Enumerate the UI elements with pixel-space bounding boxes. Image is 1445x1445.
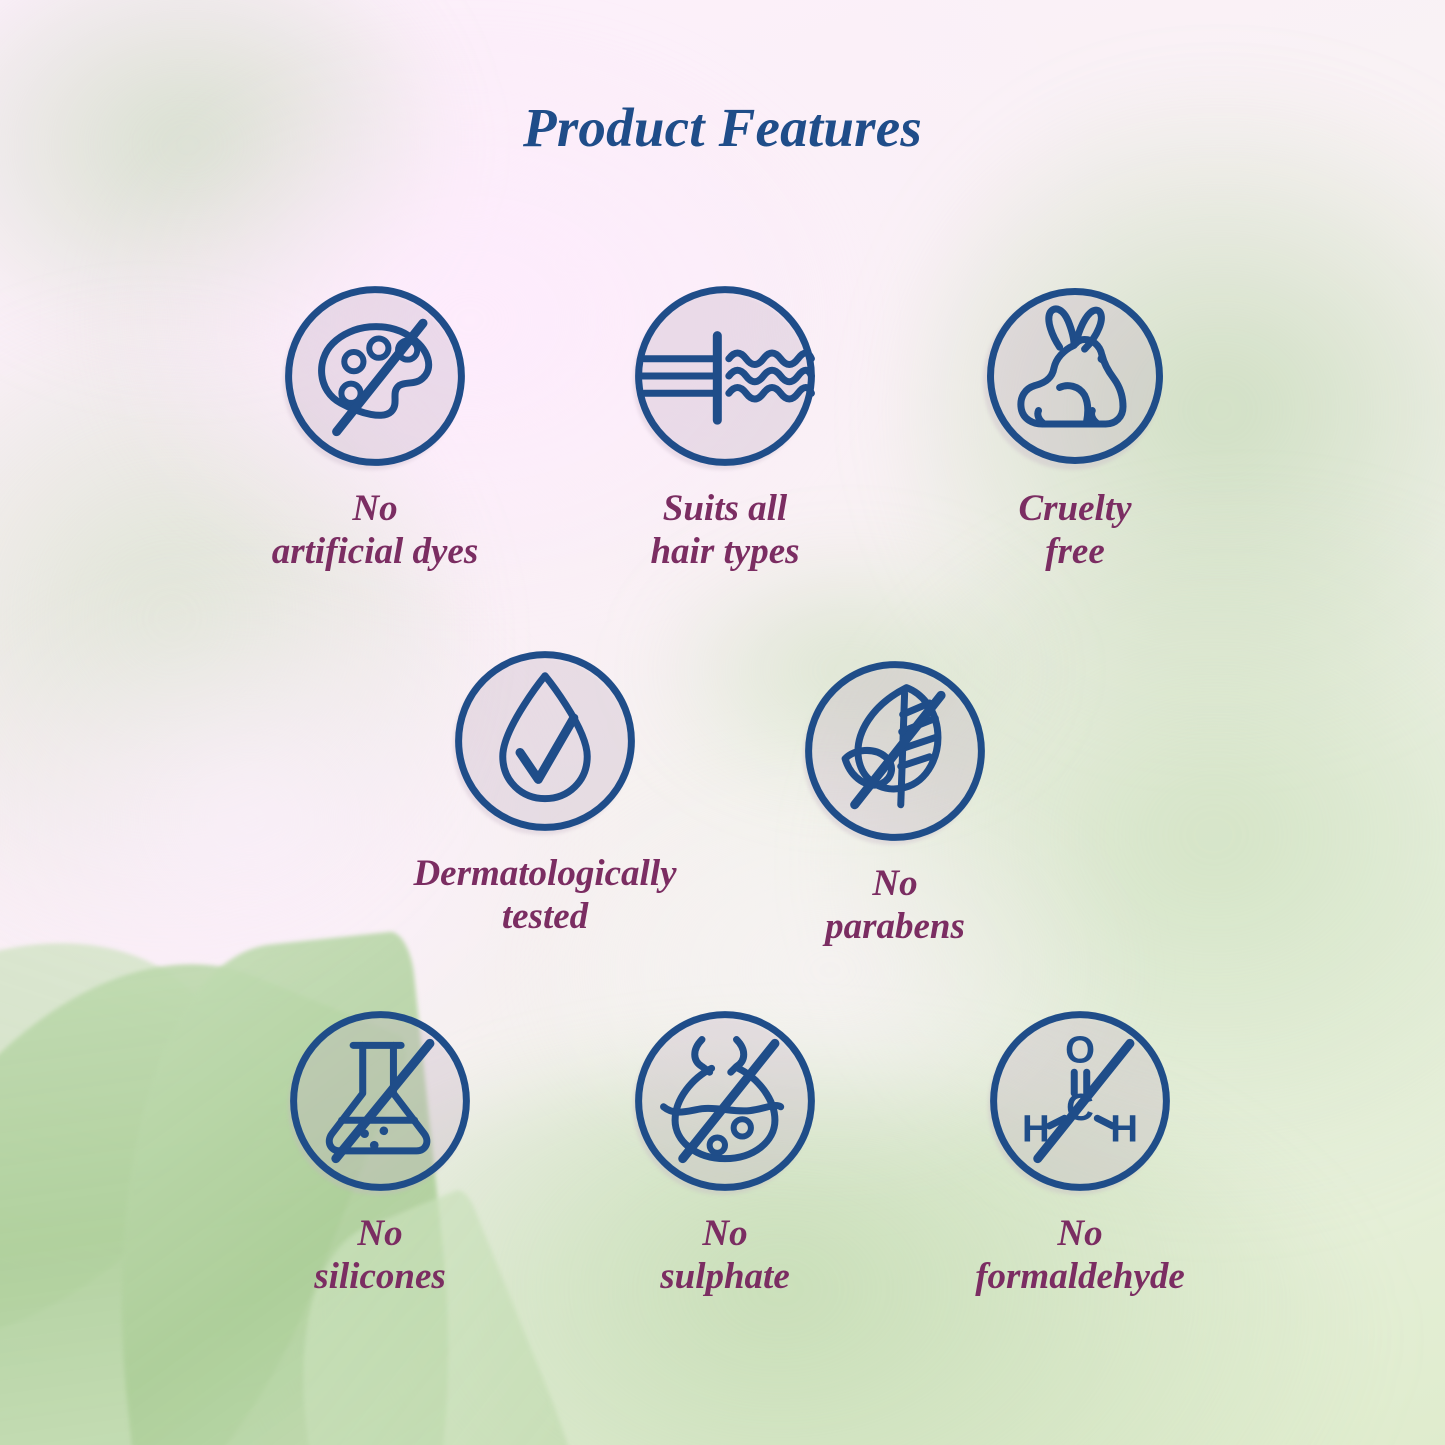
feature-label: No parabens — [745, 863, 1045, 949]
feature-no-sulphate: No sulphate — [575, 1005, 875, 1299]
feature-no-parabens: No parabens — [745, 655, 1045, 949]
feature-no-artificial-dyes: No artificial dyes — [225, 280, 525, 574]
palette-crossed-icon — [279, 280, 471, 472]
product-features-poster: Product Features No artificial dyes — [0, 0, 1445, 1445]
droplet-check-icon — [449, 645, 641, 837]
feature-label: Dermatologically tested — [395, 853, 695, 939]
feature-label: Cruelty free — [925, 488, 1225, 574]
leaf-crossed-icon — [799, 655, 991, 847]
feature-dermatologically-tested: Dermatologically tested — [395, 645, 695, 939]
feature-no-formaldehyde: O C H H No formaldehyde — [930, 1005, 1230, 1299]
formaldehyde-molecule-crossed-icon: O C H H — [984, 1005, 1176, 1197]
feature-label: No sulphate — [575, 1213, 875, 1299]
round-flask-crossed-icon — [629, 1005, 821, 1197]
feature-label: No silicones — [230, 1213, 530, 1299]
erlenmeyer-flask-crossed-icon — [284, 1005, 476, 1197]
feature-cruelty-free: Cruelty free — [925, 280, 1225, 574]
features-grid: No artificial dyes Suits all hair types — [0, 0, 1445, 1445]
feature-label: No formaldehyde — [930, 1213, 1230, 1299]
svg-text:O: O — [1065, 1029, 1095, 1072]
feature-no-silicones: No silicones — [230, 1005, 530, 1299]
rabbit-icon — [979, 280, 1171, 472]
feature-label: No artificial dyes — [225, 488, 525, 574]
feature-label: Suits all hair types — [575, 488, 875, 574]
feature-suits-all-hair-types: Suits all hair types — [575, 280, 875, 574]
hair-types-icon — [629, 280, 821, 472]
